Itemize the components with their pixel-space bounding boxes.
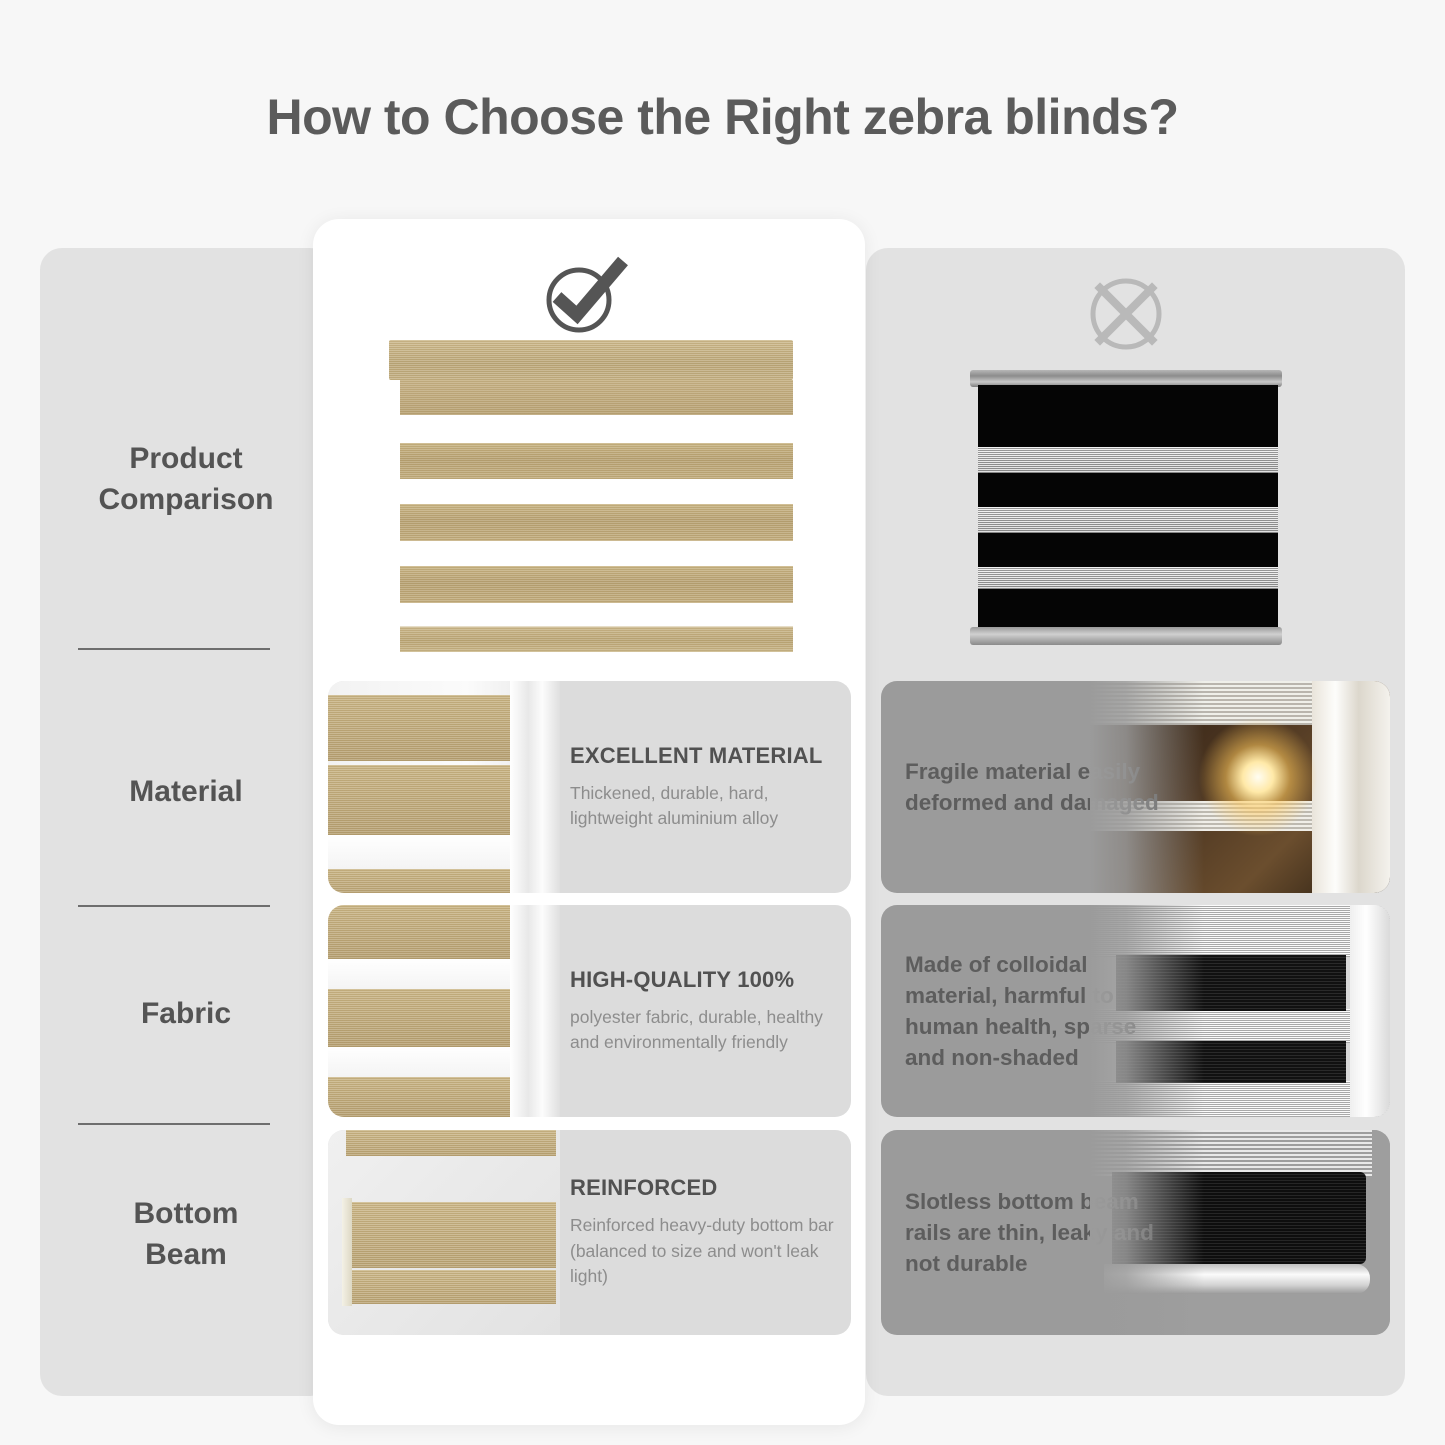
- row-divider: [78, 1123, 270, 1125]
- blind-sheer-stripe: [978, 567, 1278, 589]
- good-card-material: EXCELLENT MATERIAL Thickened, durable, h…: [328, 681, 851, 893]
- row-divider: [78, 648, 270, 650]
- x-circle-icon: [1078, 272, 1174, 356]
- good-card-heading: HIGH-QUALITY 100%: [570, 967, 842, 993]
- left-label-panel: Product Comparison Material Fabric Botto…: [40, 248, 332, 1396]
- sparse-blind-image: [1090, 905, 1390, 1117]
- bad-card-bottom-beam: Slotless bottom beam rails are thin, lea…: [881, 1130, 1390, 1335]
- blind-headrail: [389, 340, 793, 380]
- good-card-body: Thickened, durable, hard, lightweight al…: [570, 781, 842, 832]
- row-label-material: Material: [40, 771, 332, 812]
- blind-slat: [400, 566, 793, 603]
- blind-headrail-valance: [400, 380, 793, 415]
- row-label-product-comparison: Product Comparison: [40, 438, 332, 521]
- thin-rail-image: [1090, 1130, 1390, 1335]
- good-card-fabric: HIGH-QUALITY 100% polyester fabric, dura…: [328, 905, 851, 1117]
- tan-bottom-bar-image: [328, 1130, 560, 1335]
- row-label-bottom-beam: Bottom Beam: [40, 1193, 332, 1276]
- tan-zebra-blind-image: [389, 340, 793, 660]
- infographic-page: How to Choose the Right zebra blinds? Pr…: [0, 0, 1445, 1445]
- tan-fabric-closeup-image: [328, 905, 560, 1117]
- good-card-heading: EXCELLENT MATERIAL: [570, 743, 842, 769]
- good-card-bottom-beam: REINFORCED Reinforced heavy-duty bottom …: [328, 1130, 851, 1335]
- good-card-body: polyester fabric, durable, healthy and e…: [570, 1005, 842, 1056]
- check-circle-icon: [535, 253, 631, 337]
- good-card-text-block: EXCELLENT MATERIAL Thickened, durable, h…: [570, 681, 842, 893]
- page-title: How to Choose the Right zebra blinds?: [0, 88, 1445, 146]
- blind-sheer-stripe: [978, 507, 1278, 533]
- blind-sheer-stripe: [978, 447, 1278, 473]
- row-divider: [78, 905, 270, 907]
- black-zebra-blind-image: [970, 370, 1282, 645]
- blind-slat: [400, 443, 793, 479]
- tan-blind-closeup-image: [328, 681, 560, 893]
- blind-slat: [400, 504, 793, 541]
- blind-fabric-body: [978, 385, 1278, 629]
- good-card-heading: REINFORCED: [570, 1175, 842, 1201]
- sunlight-leak-image: [1090, 681, 1390, 893]
- blind-bottom-bar: [400, 626, 793, 652]
- good-card-text-block: REINFORCED Reinforced heavy-duty bottom …: [570, 1130, 842, 1335]
- row-label-fabric: Fabric: [40, 993, 332, 1034]
- bad-card-material: Fragile material easily deformed and dam…: [881, 681, 1390, 893]
- good-card-body: Reinforced heavy-duty bottom bar (balanc…: [570, 1213, 842, 1289]
- good-card-text-block: HIGH-QUALITY 100% polyester fabric, dura…: [570, 905, 842, 1117]
- bad-card-fabric: Made of colloidal material, harmful to h…: [881, 905, 1390, 1117]
- blind-bottom-rail: [970, 627, 1282, 645]
